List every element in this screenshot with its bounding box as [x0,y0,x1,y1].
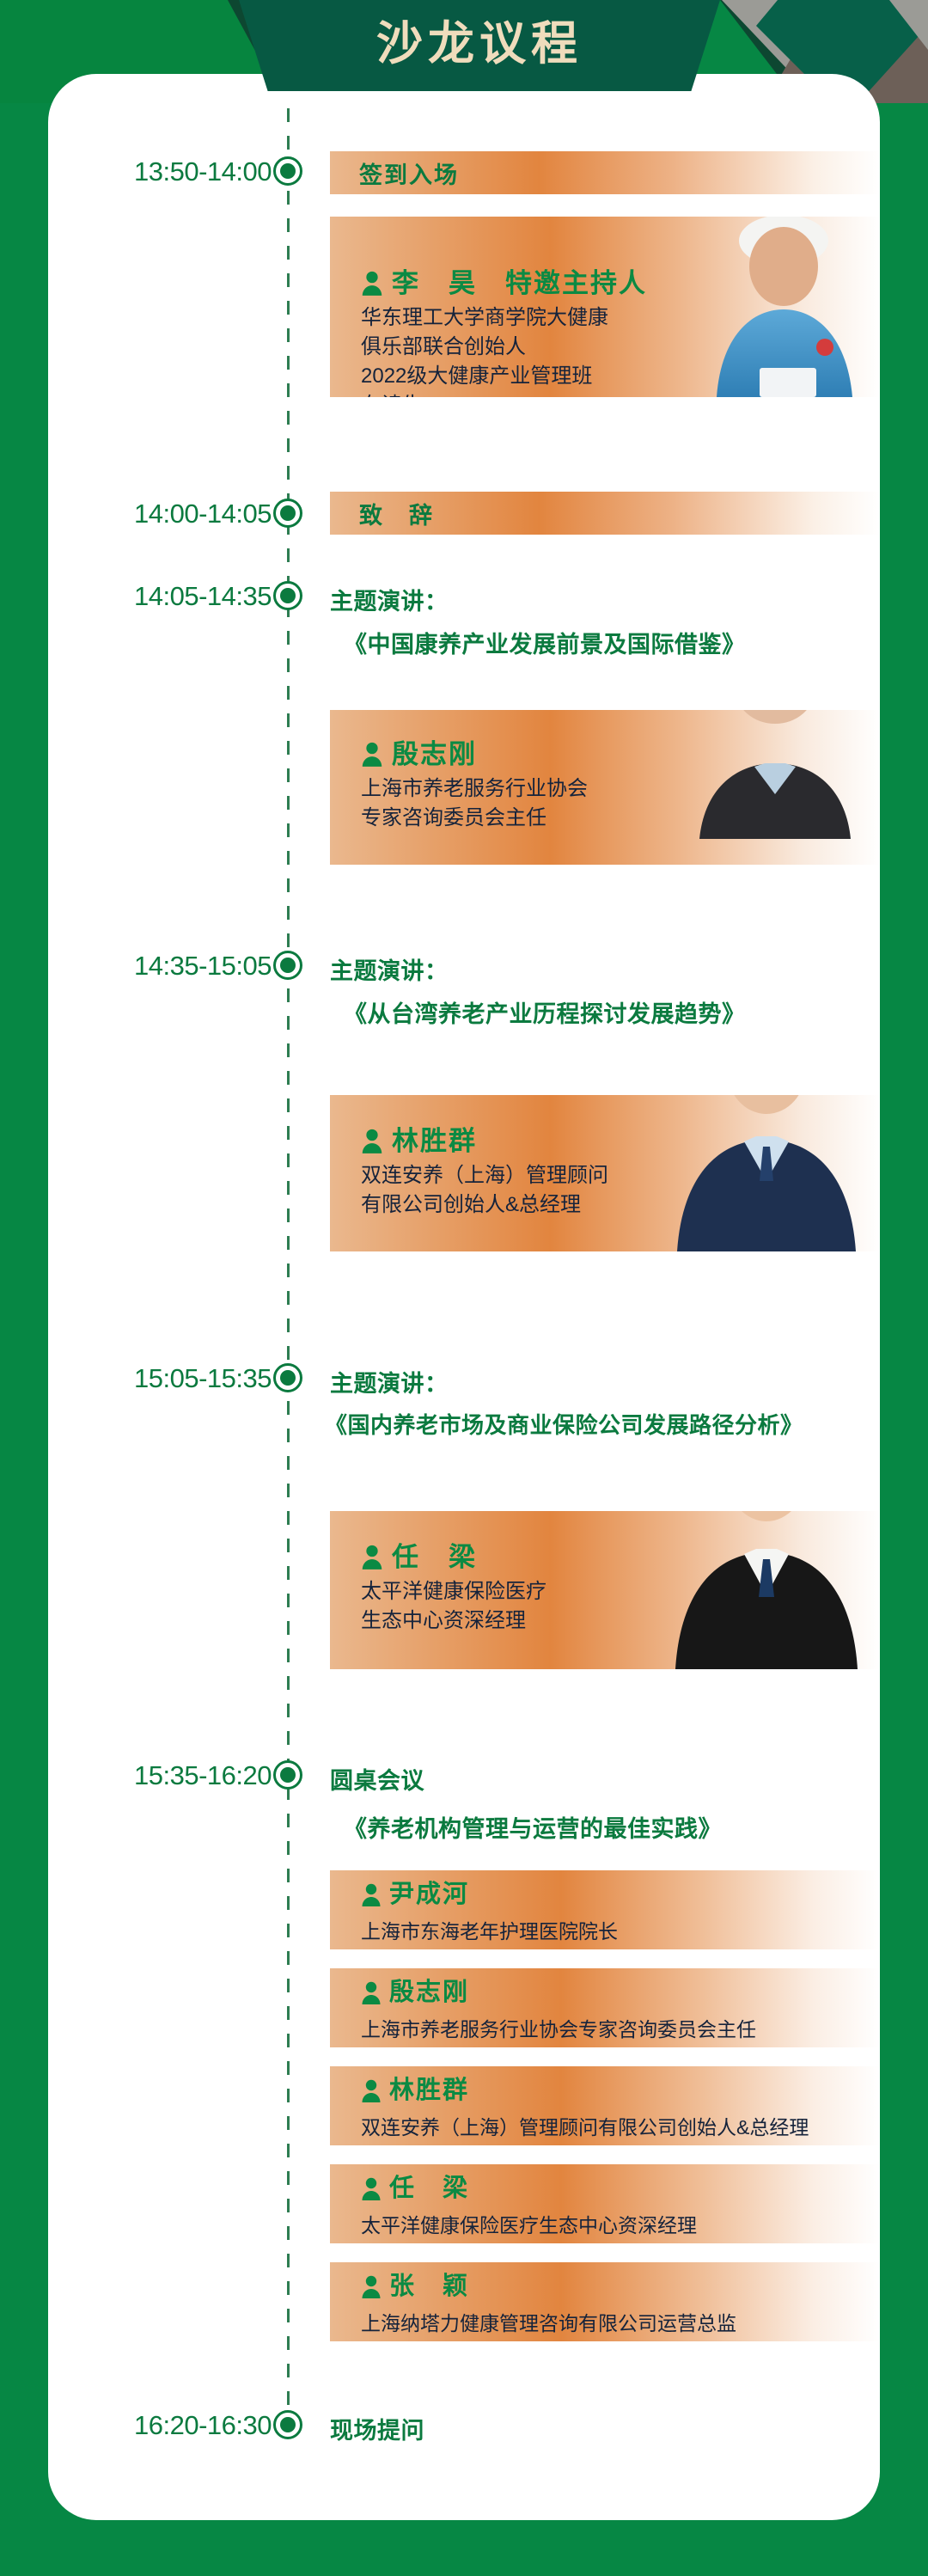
session-title: 圆桌会议 [330,1762,424,1796]
speaker-bio-line: 生态中心资深经理 [361,1606,880,1636]
speaker-bio-line: 华东理工大学商学院大健康 [361,303,880,333]
panelist-row: 任 梁 太平洋健康保险医疗生态中心资深经理 [330,2164,880,2243]
agenda-time: 14:00-14:05 [65,499,272,529]
speaker-name: 李 昊 特邀主持人 [392,270,647,297]
person-icon [361,742,383,768]
panelist-bio: 太平洋健康保险医疗生态中心资深经理 [361,2209,697,2238]
session-title-bar: 致 辞 [330,492,880,535]
session-title: 签到入场 [330,156,459,190]
agenda-time: 14:05-14:35 [65,581,272,612]
panelist-bio: 上海市东海老年护理医院院长 [361,1915,618,1944]
speaker-name: 林胜群 [392,1128,477,1154]
session-title-bar: 签到入场 [330,151,880,194]
panelist-row: 张 颖 上海纳塔力健康管理咨询有限公司运营总监 [330,2262,880,2341]
speaker-name-wrap: 李 昊 特邀主持人 [361,270,880,297]
speaker-bio: 太平洋健康保险医疗 生态中心资深经理 [361,1577,880,1636]
agenda-time: 15:05-15:35 [65,1363,272,1394]
panelist-name: 殷志刚 [389,1980,469,2005]
agenda-time: 14:35-15:05 [65,951,272,982]
session-subtitle: 《国内养老市场及商业保险公司发展路径分析》 [325,1408,803,1440]
speaker-name-wrap: 任 梁 [361,1544,880,1570]
panelist-row: 尹成河 上海市东海老年护理医院院长 [330,1870,880,1949]
speaker-name: 任 梁 [392,1544,477,1570]
panelist-name-wrap: 林胜群 [361,2078,469,2103]
panelist-name: 任 梁 [389,2176,469,2201]
panelist-row: 殷志刚 上海市养老服务行业协会专家咨询委员会主任 [330,1968,880,2047]
session-title: 主题演讲： [330,952,449,986]
speaker-card: 李 昊 特邀主持人 华东理工大学商学院大健康 俱乐部联合创始人 2022级大健康… [330,217,880,397]
panelist-name-wrap: 殷志刚 [361,1980,469,2005]
speaker-name-wrap: 殷志刚 [361,741,880,768]
panelist-name: 尹成河 [389,1882,469,1907]
speaker-bio: 双连安养（上海）管理顾问 有限公司创始人&总经理 [361,1161,880,1220]
panelist-bio: 上海市养老服务行业协会专家咨询委员会主任 [361,2013,756,2042]
speaker-bio-line: 俱乐部联合创始人 [361,333,880,362]
session-subtitle: 《从台湾养老产业历程探讨发展趋势》 [344,995,746,1029]
timeline-dot-icon [273,1760,302,1790]
timeline-dot-icon [273,499,302,528]
agenda-time: 15:35-16:20 [65,1760,272,1791]
session-title: 主题演讲： [330,583,449,616]
panelist-name-wrap: 尹成河 [361,1882,469,1907]
speaker-bio-line: 上海市养老服务行业协会 [361,774,880,804]
speaker-bio-line: 2022级大健康产业管理班 [361,362,880,391]
session-subtitle: 《中国康养产业发展前景及国际借鉴》 [344,626,746,659]
panelist-name-wrap: 张 颖 [361,2274,469,2299]
speaker-bio: 华东理工大学商学院大健康 俱乐部联合创始人 2022级大健康产业管理班 在读生 [361,303,880,397]
panelist-row: 林胜群 双连安养（上海）管理顾问有限公司创始人&总经理 [330,2066,880,2145]
person-icon [361,1883,382,1907]
timeline-dot-icon [273,156,302,186]
session-title: 主题演讲： [330,1365,449,1398]
agenda-time: 16:20-16:30 [65,2410,272,2441]
speaker-card: 林胜群 双连安养（上海）管理顾问 有限公司创始人&总经理 [330,1095,880,1251]
person-icon [361,2079,382,2103]
session-title: 现场提问 [330,2412,424,2445]
speaker-bio-line: 太平洋健康保险医疗 [361,1577,880,1606]
person-icon [361,2177,382,2201]
agenda-card: 13:50-14:00 签到入场 [48,74,880,2520]
speaker-bio-line: 在读生 [361,391,880,397]
timeline-dashed-line [287,108,290,2429]
speaker-card: 任 梁 太平洋健康保险医疗 生态中心资深经理 [330,1511,880,1669]
agenda-time: 13:50-14:00 [65,156,272,187]
session-subtitle: 《养老机构管理与运营的最佳实践》 [344,1810,722,1844]
speaker-name-wrap: 林胜群 [361,1128,880,1154]
speaker-bio-line: 双连安养（上海）管理顾问 [361,1161,880,1190]
person-icon [361,1981,382,2005]
person-icon [361,2275,382,2299]
person-icon [361,1545,383,1570]
panelist-name: 林胜群 [389,2078,469,2103]
timeline-dot-icon [273,1363,302,1392]
panelist-name: 张 颖 [389,2274,469,2299]
person-icon [361,271,383,297]
panelist-bio: 上海纳塔力健康管理咨询有限公司运营总监 [361,2307,736,2336]
timeline: 13:50-14:00 签到入场 [48,74,880,2520]
person-icon [361,1129,383,1154]
speaker-name: 殷志刚 [392,741,477,768]
session-title: 致 辞 [330,497,434,530]
timeline-dot-icon [273,2410,302,2439]
timeline-dot-icon [273,581,302,610]
speaker-bio: 上海市养老服务行业协会 专家咨询委员会主任 [361,774,880,833]
panelist-bio: 双连安养（上海）管理顾问有限公司创始人&总经理 [361,2111,809,2140]
page-title-banner: 沙龙议程 [239,0,720,91]
panelist-name-wrap: 任 梁 [361,2176,469,2201]
page-title: 沙龙议程 [376,21,583,70]
speaker-bio-line: 有限公司创始人&总经理 [361,1190,880,1220]
timeline-dot-icon [273,951,302,980]
speaker-card: 殷志刚 上海市养老服务行业协会 专家咨询委员会主任 [330,710,880,865]
speaker-bio-line: 专家咨询委员会主任 [361,804,880,833]
